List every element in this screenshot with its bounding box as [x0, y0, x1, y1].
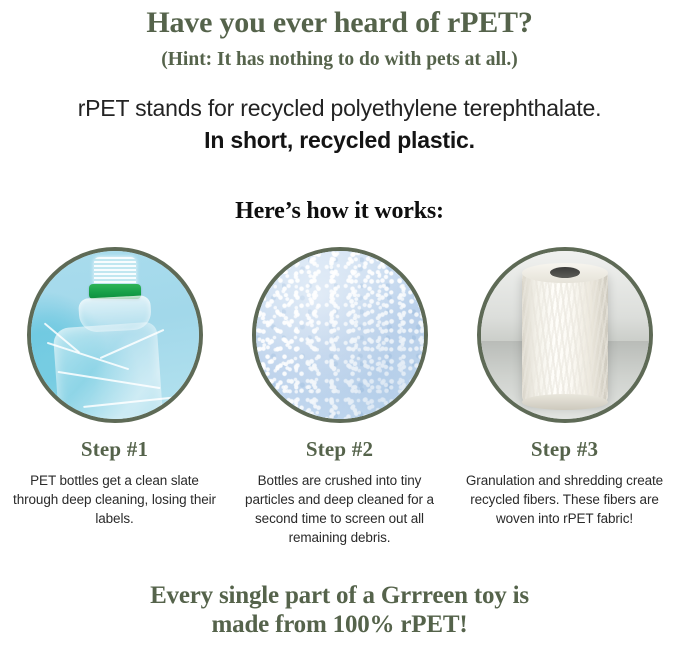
step-1-image: [27, 247, 203, 423]
plastic-bottle-illustration: [31, 251, 199, 419]
step-2-label: Step #2: [306, 437, 373, 462]
infographic-page: Have you ever heard of rPET? (Hint: It h…: [0, 0, 679, 648]
step-3-description: Granulation and shredding create recycle…: [458, 471, 671, 528]
step-1-description: PET bottles get a clean slate through de…: [8, 471, 221, 528]
footer-tagline-line-1: Every single part of a Grrreen toy is: [0, 581, 679, 610]
how-it-works-title: Here’s how it works:: [0, 154, 679, 225]
step-2-image: [252, 247, 428, 423]
step-3-label: Step #3: [531, 437, 598, 462]
step-1-label: Step #1: [81, 437, 148, 462]
step-item-3: Step #3 Granulation and shredding create…: [458, 247, 671, 528]
step-3-image: [477, 247, 653, 423]
footer-tagline-line-2: made from 100% rPET!: [0, 610, 679, 639]
spool-thread-body: [522, 271, 608, 403]
step-item-1: Step #1 PET bottles get a clean slate th…: [8, 247, 221, 528]
step-2-description: Bottles are crushed into tiny particles …: [233, 471, 446, 548]
page-subheadline: (Hint: It has nothing to do with pets at…: [0, 38, 679, 70]
spool-bottom-ellipse: [522, 394, 608, 410]
bottle-neck-shape: [94, 257, 136, 287]
steps-row: Step #1 PET bottles get a clean slate th…: [0, 247, 679, 548]
definition-text: rPET stands for recycled polyethylene te…: [0, 70, 679, 122]
spool-center-hole: [550, 267, 580, 278]
step-item-2: Step #2 Bottles are crushed into tiny pa…: [233, 247, 446, 548]
footer-tagline: Every single part of a Grrreen toy is ma…: [0, 581, 679, 639]
definition-summary-text: In short, recycled plastic.: [0, 122, 679, 154]
pellets-sheen-overlay: [256, 251, 424, 419]
thread-spool-illustration: [481, 251, 649, 419]
page-headline: Have you ever heard of rPET?: [0, 0, 679, 38]
